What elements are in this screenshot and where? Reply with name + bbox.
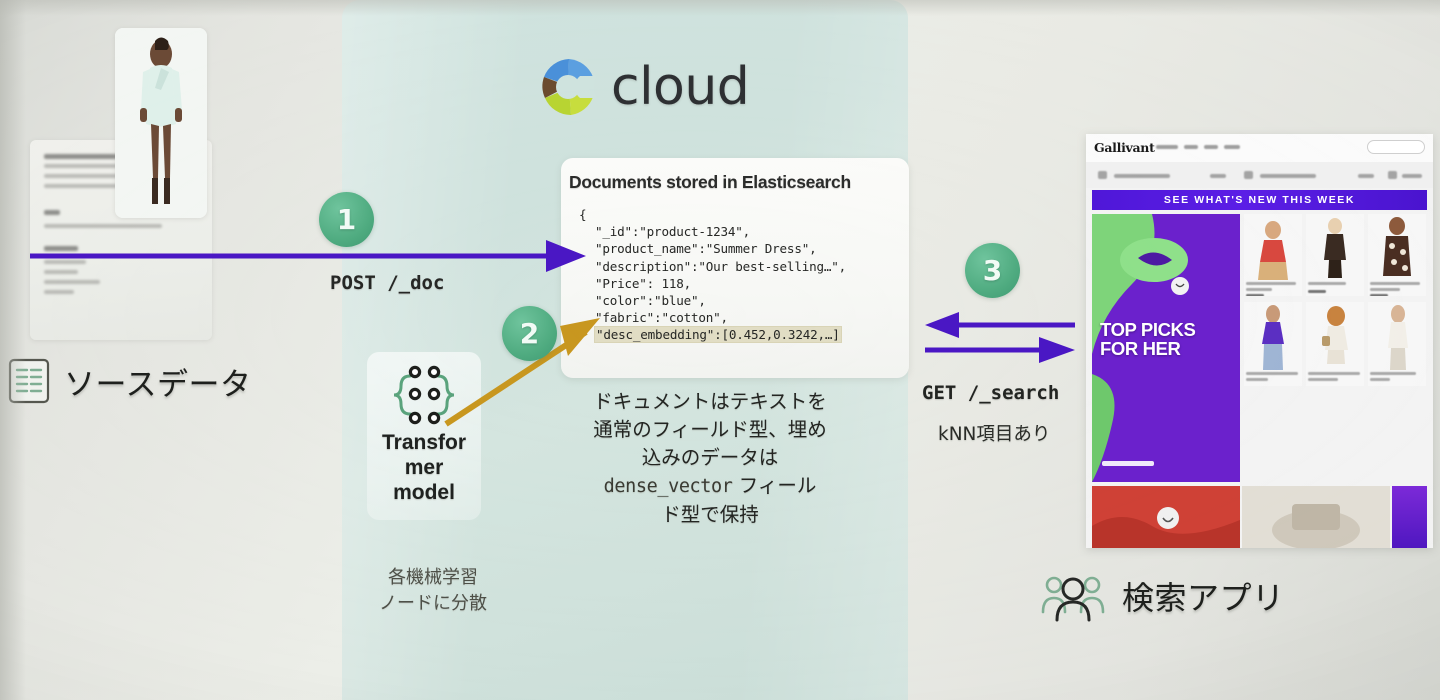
product-card[interactable] [1244,214,1302,296]
nav-link[interactable] [1224,145,1240,149]
transformer-label-line3: model [367,480,481,505]
app-sub-nav [1086,162,1433,188]
distributed-note: 各機械学習 ノードに分散 [348,565,518,617]
document-card-title: Documents stored in Elasticsearch [569,172,909,193]
json-field: "product_name":"Summer Dress", [595,241,816,256]
product-card[interactable] [1306,214,1364,296]
model-figure-icon [115,28,207,218]
explanation-line-4-tail: フィール [733,474,817,497]
json-line: "color":"blue", [579,292,846,309]
json-line: "Price": 118, [579,275,846,292]
nav-link[interactable] [1184,145,1198,149]
strip-tile[interactable] [1092,486,1240,548]
people-group-icon [1040,570,1106,622]
product-card[interactable] [1368,214,1426,296]
app-brand-logo: Gallivant [1094,140,1155,155]
strip-tile[interactable] [1242,486,1390,548]
json-field: "_id":"product-1234", [595,224,750,239]
post-doc-arrow [30,236,590,276]
product-card[interactable] [1368,302,1426,386]
dense-vector-term: dense_vector [604,476,733,497]
gift-icon [1244,171,1253,179]
hero-title: TOP PICKS FOR HER [1100,320,1234,358]
transformer-label: Transfor mer model [367,430,481,505]
distributed-note-line1: 各機械学習 [348,565,518,591]
nav-link[interactable] [1156,145,1178,149]
json-line: "description":"Our best-selling…", [579,258,846,275]
shipping-truck-icon [1098,171,1107,179]
hero-cta[interactable] [1102,461,1154,466]
explanation-line-4: dense_vector フィール [560,472,860,501]
search-app-screenshot: Gallivant SEE WHAT'S NEW THIS WEEK [1086,134,1433,548]
shipping-text [1114,174,1170,178]
json-field: "description":"Our best-selling…", [595,259,846,274]
json-line: "_id":"product-1234", [579,223,846,240]
gift-text [1260,174,1316,178]
distributed-note-line2: ノードに分散 [348,591,518,617]
json-field: "Price": 118, [595,276,691,291]
bottom-image-strip [1092,486,1427,548]
step-badge-1: 1 [319,192,374,247]
search-bidirectional-arrow [925,312,1075,364]
store-text [1402,174,1422,178]
knn-note-label: kNN項目あり [938,420,1050,446]
app-top-nav: Gallivant [1086,134,1433,162]
shipping-link[interactable] [1210,174,1226,178]
json-line: { [579,206,846,223]
source-data-label: ソースデータ [64,359,251,404]
post-doc-label: POST /_doc [330,272,444,294]
search-app-label: 検索アプリ [1122,573,1285,619]
explanation-line-3: 込みのデータは [560,444,860,472]
transformer-label-line2: mer [367,455,481,480]
json-field: "color":"blue", [595,293,706,308]
strip-tile[interactable] [1392,486,1427,548]
search-app-label-group: 検索アプリ [1040,570,1285,622]
product-card[interactable] [1306,302,1364,386]
get-search-label: GET /_search [922,382,1059,404]
promo-banner[interactable]: SEE WHAT'S NEW THIS WEEK [1092,190,1427,210]
explanation-line-5: ド型で保持 [560,501,860,529]
step-badge-3: 3 [965,243,1020,298]
embedding-field-highlight: "desc_embedding":[0.452,0.3242,…] [595,327,841,342]
app-search-input[interactable] [1367,140,1425,154]
promo-banner-text: SEE WHAT'S NEW THIS WEEK [1164,194,1355,206]
step-badge-2: 2 [502,306,557,361]
gift-link[interactable] [1358,174,1374,178]
product-card[interactable] [1244,302,1302,386]
json-field: { [579,207,586,222]
cloud-wordmark: cloud [611,57,749,117]
json-line: "product_name":"Summer Dress", [579,240,846,257]
location-pin-icon [1388,171,1397,179]
source-data-label-group: ソースデータ [8,358,251,404]
nav-link[interactable] [1204,145,1218,149]
document-grid-icon [8,358,50,404]
product-model-photo [115,28,207,218]
transformer-label-line1: Transfor [367,430,481,455]
elastic-cloud-logo: cloud [535,55,749,119]
slide-canvas: cloud [0,0,1440,700]
hero-tile[interactable]: TOP PICKS FOR HER [1092,214,1240,482]
elastic-logo-icon [535,55,599,119]
